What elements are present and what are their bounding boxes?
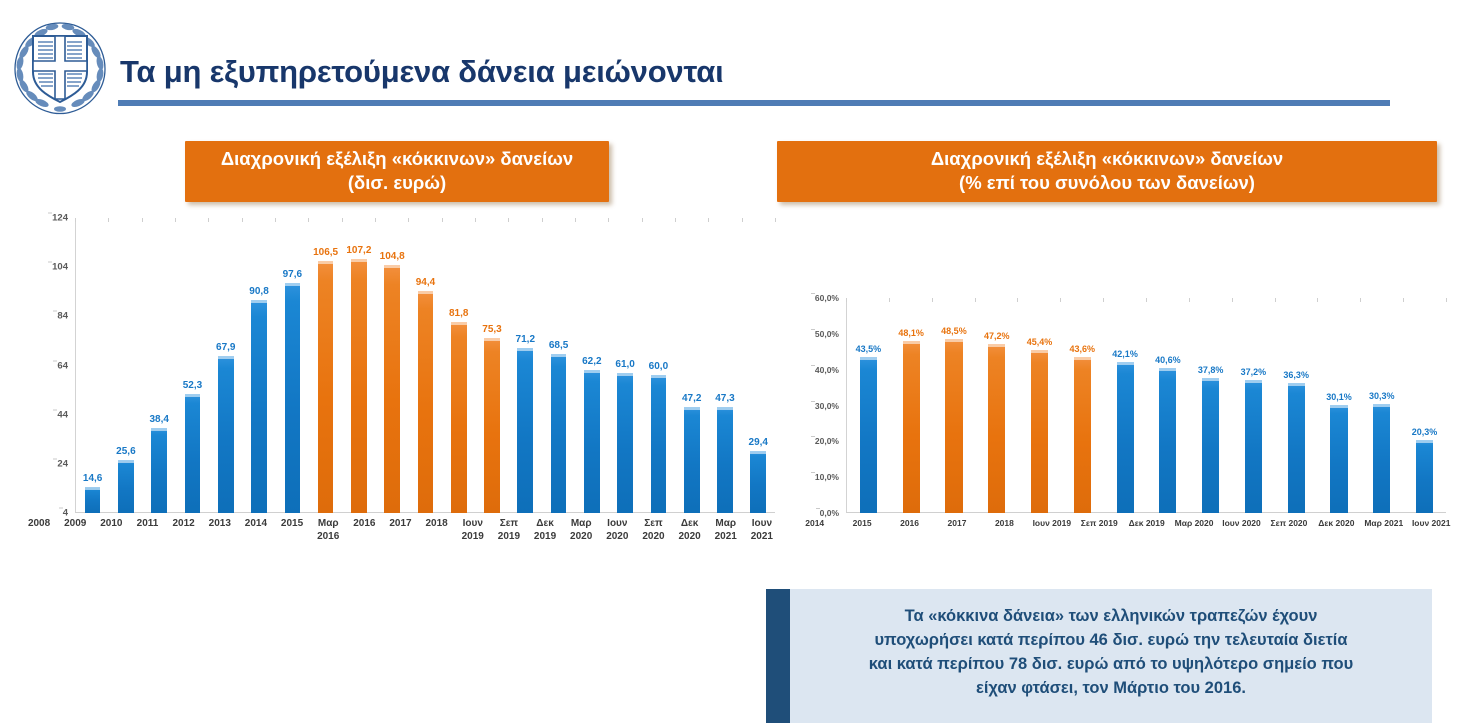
bar-value-label: 71,2 (516, 334, 535, 345)
x-tick-mark (675, 218, 676, 222)
y-tick-mark (53, 458, 57, 459)
x-tick-label-line: Μαρ (310, 518, 346, 531)
bar: 104,8 (384, 265, 400, 513)
x-tick-label: Ιουν 2021 (1407, 518, 1454, 529)
bar: 42,1% (1117, 362, 1134, 513)
footnote-line-1: Τα «κόκκινα δάνεια» των ελληνικών τραπεζ… (869, 605, 1353, 629)
x-tick-mark (1446, 298, 1447, 302)
x-tick-mark (75, 218, 76, 222)
y-tick-mark (59, 508, 63, 509)
y-tick-mark (811, 365, 815, 366)
bar-value-label: 47,2% (984, 331, 1010, 341)
x-tick-label-line: 2019 (527, 531, 563, 544)
bar-value-label: 48,5% (941, 326, 967, 336)
y-tick-label: 44 (57, 409, 68, 420)
bar-value-label: 14,6 (83, 473, 102, 484)
bar-slot: 60,0 (642, 218, 675, 513)
bar-slot: 45,4% (1018, 298, 1061, 513)
x-tick-label-line: Ιουν 2021 (1407, 518, 1454, 529)
bar-value-label: 36,3% (1283, 370, 1309, 380)
x-tick-label-line: 2014 (791, 518, 838, 529)
x-tick-label: Δεκ 2019 (1123, 518, 1170, 529)
npl-volume-plot-area: 424446484104124 14,625,638,452,367,990,8… (75, 218, 775, 513)
bar: 97,6 (285, 283, 301, 513)
footnote-line-4: είχαν φτάσει, τον Μάρτιο του 2016. (869, 677, 1353, 701)
bar-slot: 107,2 (342, 218, 375, 513)
bar-slot: 36,3% (1275, 298, 1318, 513)
bar: 43,5% (860, 357, 877, 513)
x-tick-label-line: Δεκ (672, 518, 708, 531)
y-tick-label: 20,0% (815, 436, 839, 446)
bar-slot: 20,3% (1403, 298, 1446, 513)
x-tick-label-line: 2012 (166, 518, 202, 531)
x-tick-mark (242, 218, 243, 222)
bar-slot: 37,8% (1189, 298, 1232, 513)
x-tick-label: Μαρ2021 (708, 518, 744, 543)
y-tick-label: 64 (57, 360, 68, 371)
x-tick-mark (889, 298, 890, 302)
x-tick-label: 2018 (419, 518, 455, 543)
x-tick-label-line: Σεπ (491, 518, 527, 531)
x-tick-mark (608, 218, 609, 222)
bar-value-label: 75,3 (482, 324, 501, 335)
x-tick-mark (1060, 298, 1061, 302)
bar-slot: 62,2 (575, 218, 608, 513)
bar-slot: 61,0 (609, 218, 642, 513)
x-tick-label: 2018 (981, 518, 1028, 529)
title-divider (118, 100, 1390, 106)
x-tick-label: 2008 (21, 518, 57, 543)
x-tick-label-line: 2015 (838, 518, 885, 529)
footnote-line-3: και κατά περίπου 78 δισ. ευρώ από το υψη… (869, 653, 1353, 677)
bar-value-label: 94,4 (416, 277, 435, 288)
x-tick-mark (1317, 298, 1318, 302)
x-tick-mark (108, 218, 109, 222)
x-tick-label-line: Δεκ 2020 (1313, 518, 1360, 529)
y-tick-label: 40,0% (815, 365, 839, 375)
npl-ratio-chart: 0,0%10,0%20,0%30,0%40,0%50,0%60,0% 43,5%… (790, 286, 1455, 551)
bar-slot: 48,1% (890, 298, 933, 513)
footnote-line-2: υποχωρήσει κατά περίπου 46 δισ. ευρώ την… (869, 629, 1353, 653)
x-tick-label-line: 2021 (708, 531, 744, 544)
x-tick-mark (742, 218, 743, 222)
left-chart-title-line2: (δισ. ευρώ) (193, 171, 601, 195)
npl-ratio-x-labels: 20142015201620172018Ιουν 2019Σεπ 2019Δεκ… (791, 518, 1455, 529)
right-chart-title-banner: Διαχρονική εξέλιξη «κόκκινων» δανείων (%… (777, 141, 1437, 202)
x-tick-label-line: 2019 (491, 531, 527, 544)
x-tick-label: Ιουν2019 (455, 518, 491, 543)
x-tick-label: Δεκ2019 (527, 518, 563, 543)
x-tick-label-line: Ιουν 2019 (1028, 518, 1075, 529)
x-tick-label-line: 2021 (744, 531, 780, 544)
bar: 81,8 (451, 322, 467, 513)
x-tick-mark (175, 218, 176, 222)
x-tick-label-line: Μαρ 2020 (1170, 518, 1217, 529)
bar-value-label: 20,3% (1412, 427, 1438, 437)
x-tick-mark (408, 218, 409, 222)
bar: 90,8 (251, 300, 267, 513)
x-tick-label-line: 2020 (672, 531, 708, 544)
bar: 45,4% (1031, 350, 1048, 513)
x-tick-label: Μαρ2020 (563, 518, 599, 543)
x-tick-label-line: 2014 (238, 518, 274, 531)
x-tick-label: 2015 (274, 518, 310, 543)
x-tick-label-line: Δεκ (527, 518, 563, 531)
x-tick-label-line: 2018 (981, 518, 1028, 529)
bar: 107,2 (351, 259, 367, 513)
y-tick-mark (811, 293, 815, 294)
bar-value-label: 67,9 (216, 342, 235, 353)
x-tick-label-line: 2009 (57, 518, 93, 531)
x-tick-label: 2011 (129, 518, 165, 543)
left-chart-title-banner: Διαχρονική εξέλιξη «κόκκινων» δανείων (δ… (185, 141, 609, 202)
bar-value-label: 48,1% (898, 328, 924, 338)
bar: 38,4 (151, 428, 167, 513)
x-tick-label: 2016 (886, 518, 933, 529)
x-tick-label: 2015 (838, 518, 885, 529)
bar-slot: 97,6 (276, 218, 309, 513)
x-tick-mark (1232, 298, 1233, 302)
x-tick-label-line: 2020 (635, 531, 671, 544)
y-tick-mark (811, 436, 815, 437)
bar: 14,6 (85, 487, 101, 513)
x-tick-label-line: Ιουν 2020 (1218, 518, 1265, 529)
x-tick-mark (1189, 298, 1190, 302)
bar-value-label: 25,6 (116, 446, 135, 457)
x-tick-mark (1403, 298, 1404, 302)
y-tick-label: 10,0% (815, 472, 839, 482)
bar: 106,5 (318, 261, 334, 513)
x-tick-mark (846, 298, 847, 302)
x-tick-label-line: 2020 (599, 531, 635, 544)
bar: 68,5 (551, 354, 567, 513)
bar: 67,9 (218, 356, 234, 513)
x-tick-mark (642, 218, 643, 222)
x-tick-mark (308, 218, 309, 222)
x-tick-label: Σεπ2019 (491, 518, 527, 543)
y-tick-mark (53, 409, 57, 410)
npl-volume-bars: 14,625,638,452,367,990,897,6106,5107,210… (76, 218, 775, 513)
bar-value-label: 104,8 (380, 251, 405, 262)
bar: 71,2 (517, 348, 533, 513)
x-tick-mark (932, 298, 933, 302)
y-tick-label: 104 (52, 262, 68, 273)
x-tick-label-line: 2020 (563, 531, 599, 544)
x-tick-mark (1017, 298, 1018, 302)
y-tick-label: 50,0% (815, 329, 839, 339)
x-tick-label: 2017 (382, 518, 418, 543)
x-tick-label: 2014 (238, 518, 274, 543)
x-tick-label: Σεπ 2019 (1076, 518, 1123, 529)
x-tick-label: 2012 (166, 518, 202, 543)
bar-slot: 71,2 (509, 218, 542, 513)
bar-slot: 43,5% (847, 298, 890, 513)
y-tick-mark (811, 329, 815, 330)
bar-value-label: 30,3% (1369, 391, 1395, 401)
bar-value-label: 90,8 (249, 286, 268, 297)
x-tick-label: 2017 (933, 518, 980, 529)
y-tick-mark (48, 262, 52, 263)
bar-value-label: 40,6% (1155, 355, 1181, 365)
x-tick-label: Σεπ 2020 (1265, 518, 1312, 529)
x-tick-label: Ιουν2021 (744, 518, 780, 543)
bar-value-label: 47,2 (682, 393, 701, 404)
bar: 20,3% (1416, 440, 1433, 513)
bar-value-label: 61,0 (615, 359, 634, 370)
x-tick-mark (142, 218, 143, 222)
x-tick-mark (1275, 298, 1276, 302)
npl-volume-x-labels: 20082009201020112012201320142015Μαρ20162… (21, 518, 780, 543)
bar-slot: 43,6% (1061, 298, 1104, 513)
x-tick-mark (708, 218, 709, 222)
footnote-text: Τα «κόκκινα δάνεια» των ελληνικών τραπεζ… (790, 589, 1432, 723)
x-tick-mark (1103, 298, 1104, 302)
bar-slot: 47,2 (675, 218, 708, 513)
bar-value-label: 47,3 (715, 393, 734, 404)
y-tick-mark (48, 213, 52, 214)
bar-value-label: 62,2 (582, 356, 601, 367)
bar-slot: 67,9 (209, 218, 242, 513)
x-tick-mark (775, 218, 776, 222)
x-tick-label-line: 2016 (346, 518, 382, 531)
x-tick-mark (1146, 298, 1147, 302)
bar: 37,8% (1202, 378, 1219, 513)
y-tick-label: 4 (63, 508, 68, 519)
bar-slot: 106,5 (309, 218, 342, 513)
npl-ratio-bars: 43,5%48,1%48,5%47,2%45,4%43,6%42,1%40,6%… (847, 298, 1446, 513)
npl-ratio-plot-area: 0,0%10,0%20,0%30,0%40,0%50,0%60,0% 43,5%… (846, 298, 1446, 513)
x-tick-label-line: 2018 (419, 518, 455, 531)
bar-value-label: 68,5 (549, 340, 568, 351)
bar: 62,2 (584, 370, 600, 513)
bar-slot: 90,8 (242, 218, 275, 513)
x-tick-mark (508, 218, 509, 222)
bar-value-label: 106,5 (313, 247, 338, 258)
bar-value-label: 97,6 (283, 269, 302, 280)
x-tick-label-line: Μαρ (708, 518, 744, 531)
bar-slot: 68,5 (542, 218, 575, 513)
x-tick-label-line: Σεπ 2020 (1265, 518, 1312, 529)
bar-slot: 30,1% (1318, 298, 1361, 513)
x-tick-label: Σεπ2020 (635, 518, 671, 543)
x-tick-mark (442, 218, 443, 222)
bar-slot: 30,3% (1360, 298, 1403, 513)
x-tick-label: Ιουν 2020 (1218, 518, 1265, 529)
x-tick-label-line: Ιουν (744, 518, 780, 531)
x-tick-mark (475, 218, 476, 222)
x-tick-label-line: 2010 (93, 518, 129, 531)
bar-value-label: 38,4 (149, 414, 168, 425)
bar: 47,2 (684, 407, 700, 513)
x-tick-mark (975, 298, 976, 302)
y-tick-label: 24 (57, 458, 68, 469)
bar-slot: 52,3 (176, 218, 209, 513)
page-title: Τα μη εξυπηρετούμενα δάνεια μειώνονται (120, 54, 724, 90)
x-tick-label: Μαρ 2021 (1360, 518, 1407, 529)
bar: 30,1% (1330, 405, 1347, 513)
bar: 36,3% (1288, 383, 1305, 513)
bar-slot: 75,3 (475, 218, 508, 513)
bar-value-label: 81,8 (449, 308, 468, 319)
x-tick-label: Δεκ2020 (672, 518, 708, 543)
bar-slot: 81,8 (442, 218, 475, 513)
bar-value-label: 30,1% (1326, 392, 1352, 402)
x-tick-label: Δεκ 2020 (1313, 518, 1360, 529)
slide-root: Τα μη εξυπηρετούμενα δάνεια μειώνονται Δ… (0, 0, 1464, 723)
bar-slot: 42,1% (1104, 298, 1147, 513)
bar-value-label: 42,1% (1112, 349, 1138, 359)
y-tick-label: 60,0% (815, 293, 839, 303)
bar-slot: 47,2% (975, 298, 1018, 513)
x-tick-mark (542, 218, 543, 222)
y-tick-label: 0,0% (820, 508, 839, 518)
bar: 47,2% (988, 344, 1005, 513)
y-tick-mark (816, 508, 820, 509)
y-tick-mark (811, 472, 815, 473)
x-tick-label-line: Ιουν (455, 518, 491, 531)
x-tick-label-line: Μαρ (563, 518, 599, 531)
bar: 94,4 (418, 291, 434, 513)
x-tick-mark (208, 218, 209, 222)
x-tick-label-line: Σεπ (635, 518, 671, 531)
bar: 43,6% (1074, 357, 1091, 513)
bar-slot: 29,4 (742, 218, 775, 513)
x-tick-mark (275, 218, 276, 222)
bar: 47,3 (717, 407, 733, 513)
y-tick-label: 84 (57, 311, 68, 322)
bar-value-label: 29,4 (749, 437, 768, 448)
bar-slot: 25,6 (109, 218, 142, 513)
bar: 61,0 (617, 373, 633, 513)
y-tick-label: 30,0% (815, 401, 839, 411)
greek-coat-of-arms-icon (8, 14, 112, 120)
x-tick-label: 2016 (346, 518, 382, 543)
x-tick-label-line: 2019 (455, 531, 491, 544)
x-tick-label: Ιουν 2019 (1028, 518, 1075, 529)
bar: 75,3 (484, 338, 500, 513)
bar-value-label: 45,4% (1027, 337, 1053, 347)
bar: 48,5% (945, 339, 962, 513)
right-chart-title-line1: Διαχρονική εξέλιξη «κόκκινων» δανείων (785, 147, 1429, 171)
x-tick-mark (575, 218, 576, 222)
y-tick-label: 124 (52, 213, 68, 224)
x-tick-label: 2009 (57, 518, 93, 543)
x-tick-label-line: 2016 (310, 531, 346, 544)
bar: 40,6% (1159, 368, 1176, 513)
x-tick-mark (342, 218, 343, 222)
bar: 30,3% (1373, 404, 1390, 513)
x-tick-label-line: 2017 (382, 518, 418, 531)
bar: 48,1% (903, 341, 920, 513)
bar: 25,6 (118, 460, 134, 513)
left-chart-title-line1: Διαχρονική εξέλιξη «κόκκινων» δανείων (193, 147, 601, 171)
npl-volume-chart: 424446484104124 14,625,638,452,367,990,8… (20, 206, 780, 551)
bar-slot: 48,5% (933, 298, 976, 513)
bar-slot: 37,2% (1232, 298, 1275, 513)
footnote-callout: Τα «κόκκινα δάνεια» των ελληνικών τραπεζ… (766, 589, 1432, 723)
x-tick-label-line: 2008 (21, 518, 57, 531)
y-tick-mark (53, 360, 57, 361)
x-tick-label-line: 2016 (886, 518, 933, 529)
bar-slot: 38,4 (143, 218, 176, 513)
bar-value-label: 37,2% (1241, 367, 1267, 377)
bar-value-label: 52,3 (183, 380, 202, 391)
right-chart-title-line2: (% επί του συνόλου των δανείων) (785, 171, 1429, 195)
bar-value-label: 43,5% (856, 344, 882, 354)
x-tick-label-line: Μαρ 2021 (1360, 518, 1407, 529)
x-tick-label: Ιουν2020 (599, 518, 635, 543)
bar: 37,2% (1245, 380, 1262, 513)
x-tick-label-line: 2017 (933, 518, 980, 529)
x-tick-label: Μαρ 2020 (1170, 518, 1217, 529)
y-tick-mark (811, 401, 815, 402)
x-tick-label: 2014 (791, 518, 838, 529)
x-tick-label-line: 2015 (274, 518, 310, 531)
bar-value-label: 60,0 (649, 361, 668, 372)
bar-slot: 104,8 (376, 218, 409, 513)
x-tick-label-line: Σεπ 2019 (1076, 518, 1123, 529)
bar: 29,4 (750, 451, 766, 513)
bar-slot: 94,4 (409, 218, 442, 513)
bar: 52,3 (185, 394, 201, 513)
x-tick-mark (375, 218, 376, 222)
bar: 60,0 (651, 375, 667, 513)
bar-slot: 47,3 (708, 218, 741, 513)
x-tick-label-line: 2013 (202, 518, 238, 531)
bar-value-label: 43,6% (1070, 344, 1096, 354)
bar-value-label: 37,8% (1198, 365, 1224, 375)
x-tick-label-line: Ιουν (599, 518, 635, 531)
bar-value-label: 107,2 (346, 245, 371, 256)
footnote-accent-bar (766, 589, 790, 723)
x-tick-mark (1360, 298, 1361, 302)
bar-slot: 40,6% (1146, 298, 1189, 513)
x-tick-label-line: Δεκ 2019 (1123, 518, 1170, 529)
x-tick-label: 2010 (93, 518, 129, 543)
bar-slot: 14,6 (76, 218, 109, 513)
x-tick-label: Μαρ2016 (310, 518, 346, 543)
y-tick-mark (53, 311, 57, 312)
x-tick-label-line: 2011 (129, 518, 165, 531)
x-tick-label: 2013 (202, 518, 238, 543)
